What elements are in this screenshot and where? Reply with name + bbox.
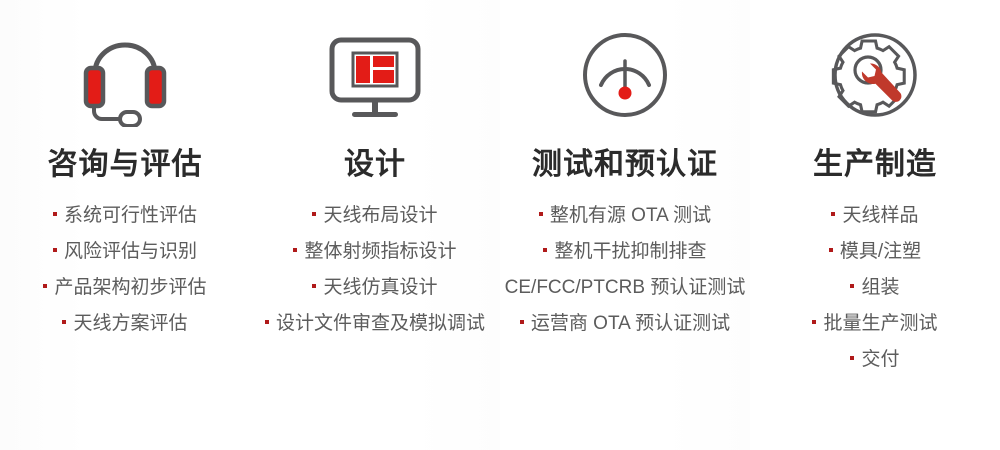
bullet-dot-icon (265, 320, 269, 324)
headset-icon-wrap (0, 0, 250, 150)
list-item: 交付 (750, 342, 1000, 378)
bullet-dot-icon (850, 284, 854, 288)
list-item: 组装 (750, 270, 1000, 306)
service-column-consulting[interactable]: 咨询与评估 系统可行性评估 风险评估与识别 产品架构初步评估 天线方案评估 (0, 0, 250, 450)
column-title: 咨询与评估 (48, 150, 203, 180)
bullet-dot-icon (539, 212, 543, 216)
list-item: 天线样品 (750, 198, 1000, 234)
list-item: 天线布局设计 (250, 198, 500, 234)
service-column-design[interactable]: 设计 天线布局设计 整体射频指标设计 天线仿真设计 设计文件审查及模拟调试 (250, 0, 500, 450)
list-item: 批量生产测试 (750, 306, 1000, 342)
list-item: 天线方案评估 (0, 306, 250, 342)
bullet-dot-icon (543, 248, 547, 252)
column-bullet-list: 整机有源 OTA 测试 整机干扰抑制排查CE/FCC/PTCRB 预认证测试 运… (496, 198, 754, 342)
bullet-dot-icon (293, 248, 297, 252)
bullet-dot-icon (520, 320, 524, 324)
bullet-dot-icon (53, 212, 57, 216)
bullet-dot-icon (312, 212, 316, 216)
bullet-dot-icon (43, 284, 47, 288)
bullet-dot-icon (53, 248, 57, 252)
bullet-dot-icon (812, 320, 816, 324)
bullet-dot-icon (62, 320, 66, 324)
gear-wrench-icon (823, 23, 927, 127)
gauge-icon (573, 23, 677, 127)
gauge-icon-wrap (500, 0, 750, 150)
monitor-design-icon (323, 23, 427, 127)
column-title: 测试和预认证 (532, 150, 718, 180)
service-column-testing[interactable]: 测试和预认证 整机有源 OTA 测试 整机干扰抑制排查CE/FCC/PTCRB … (500, 0, 750, 450)
list-item: 风险评估与识别 (0, 234, 250, 270)
headset-icon (73, 23, 177, 127)
list-item: 设计文件审查及模拟调试 (250, 306, 500, 342)
column-title: 设计 (344, 150, 406, 180)
list-item: 模具/注塑 (750, 234, 1000, 270)
service-process-banner: 咨询与评估 系统可行性评估 风险评估与识别 产品架构初步评估 天线方案评估 设计… (0, 0, 1000, 450)
column-bullet-list: 系统可行性评估 风险评估与识别 产品架构初步评估 天线方案评估 (0, 198, 254, 342)
bullet-dot-icon (850, 356, 854, 360)
list-item: 产品架构初步评估 (0, 270, 250, 306)
list-item: 运营商 OTA 预认证测试 (500, 306, 750, 342)
bullet-dot-icon (829, 248, 833, 252)
service-column-manufacturing[interactable]: 生产制造 天线样品 模具/注塑 组装 批量生产测试 交付 (750, 0, 1000, 450)
list-item: 整体射频指标设计 (250, 234, 500, 270)
gear-wrench-icon-wrap (750, 0, 1000, 150)
bullet-dot-icon (312, 284, 316, 288)
list-item: 整机干扰抑制排查CE/FCC/PTCRB 预认证测试 (500, 234, 750, 306)
column-title: 生产制造 (813, 150, 937, 180)
bullet-dot-icon (831, 212, 835, 216)
list-item: 系统可行性评估 (0, 198, 250, 234)
column-bullet-list: 天线布局设计 整体射频指标设计 天线仿真设计 设计文件审查及模拟调试 (246, 198, 504, 342)
list-item: 整机有源 OTA 测试 (500, 198, 750, 234)
column-bullet-list: 天线样品 模具/注塑 组装 批量生产测试 交付 (746, 198, 1000, 378)
list-item: 天线仿真设计 (250, 270, 500, 306)
monitor-design-icon-wrap (250, 0, 500, 150)
